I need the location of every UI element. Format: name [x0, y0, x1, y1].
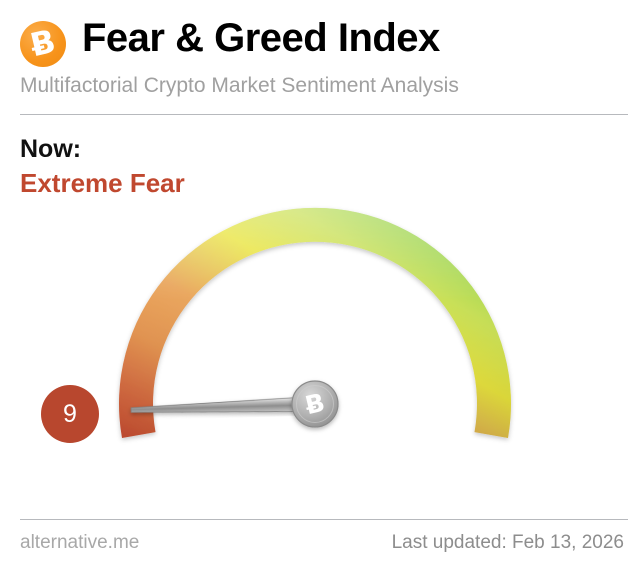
hub-bitcoin-glyph: Ƀ — [302, 388, 327, 421]
bitcoin-glyph: Ƀ — [27, 25, 58, 62]
now-label: Now: — [20, 135, 81, 164]
footer-divider — [20, 519, 628, 520]
gauge-arc — [119, 208, 511, 438]
header-divider — [20, 114, 628, 115]
now-classification: Extreme Fear — [20, 168, 185, 199]
page-title: Fear & Greed Index — [82, 16, 440, 61]
source-label: alternative.me — [20, 532, 139, 554]
gauge-value: 9 — [63, 400, 77, 429]
page-subtitle: Multifactorial Crypto Market Sentiment A… — [20, 74, 459, 98]
bitcoin-icon: Ƀ — [20, 21, 66, 67]
fear-greed-index-card: Ƀ Fear & Greed Index Multifactorial Cryp… — [0, 0, 640, 575]
last-updated-label: Last updated: Feb 13, 2026 — [392, 532, 624, 554]
header: Ƀ Fear & Greed Index Multifactorial Cryp… — [20, 16, 628, 108]
gauge-value-badge: 9 — [41, 385, 99, 443]
bitcoin-hub-icon: Ƀ — [292, 381, 338, 427]
gauge-needle — [131, 397, 315, 417]
